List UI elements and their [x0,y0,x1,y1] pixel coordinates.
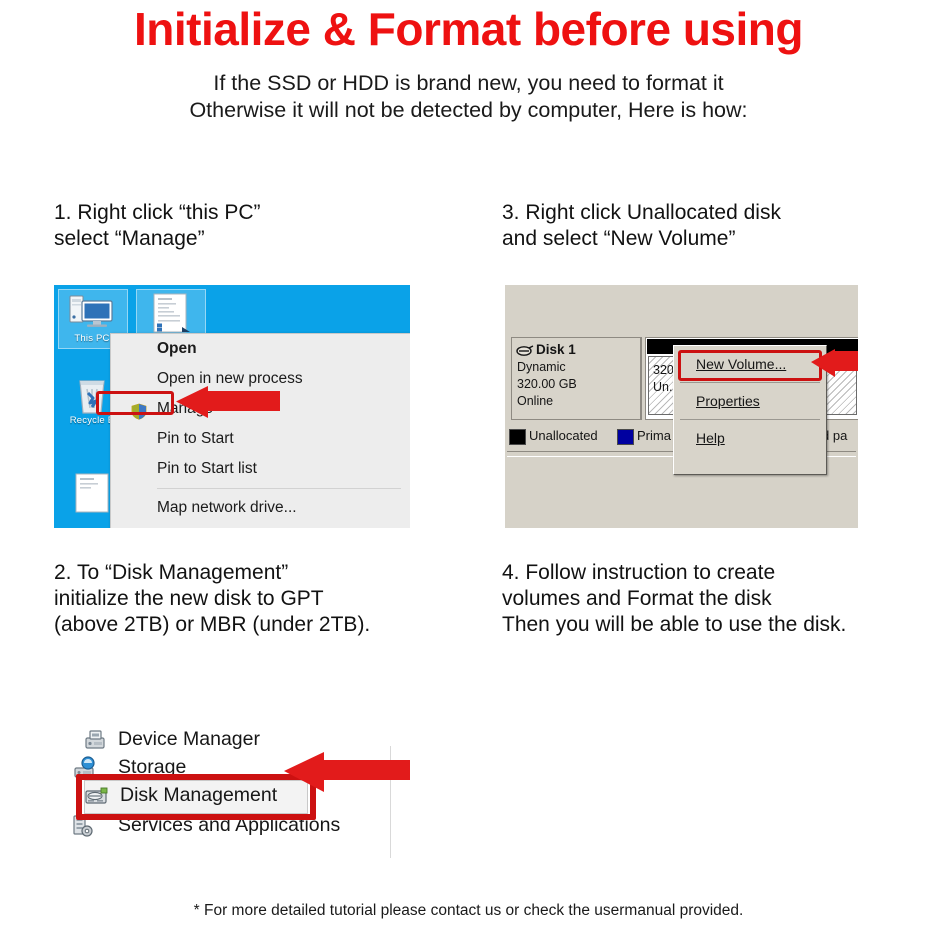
disk-capacity: 320.00 GB [517,377,577,391]
step-2-line-2: initialize the new disk to GPT [54,586,370,612]
red-arrow-manage-icon [172,385,280,424]
this-pc-icon [60,291,124,333]
legend-label-unallocated: Unallocated [529,428,598,443]
desktop-icon-document[interactable] [138,291,202,333]
context-menu-item-open[interactable]: Open [111,334,410,364]
subtitle-line-1: If the SSD or HDD is brand new, you need… [0,70,937,97]
disk-context-menu-item-properties-label: Properties [696,393,760,409]
desktop-context-menu-screenshot: This PC [54,285,410,528]
step-2-line-3: (above 2TB) or MBR (under 2TB). [54,612,370,638]
footer-note: * For more detailed tutorial please cont… [0,902,937,920]
disk-info-panel: Disk 1 Dynamic 320.00 GB Online [511,337,642,420]
disk-type: Dynamic [517,360,566,374]
disk-context-menu-item-help-label: Help [696,430,725,446]
step-3-line-2: and select “New Volume” [502,226,781,252]
step-1-line-1: 1. Right click “this PC” [54,200,261,226]
step-1-caption: 1. Right click “this PC” select “Manage” [54,200,261,252]
services-icon [70,814,96,838]
legend-label-primary: Prima [637,428,671,443]
legend-swatch-primary [617,429,634,445]
storage-icon [72,756,98,780]
subtitle-block: If the SSD or HDD is brand new, you need… [0,70,937,124]
context-menu-item-pin-to-start-list[interactable]: Pin to Start list [111,454,410,484]
tree-item-device-manager-label: Device Manager [118,728,260,751]
document-icon [138,291,202,333]
step-4-line-1: 4. Follow instruction to create [502,560,846,586]
context-menu-separator [157,488,401,489]
tree-item-services-and-applications-label: Services and Applications [118,814,340,837]
disk-context-menu-item-new-volume-label: New Volume... [696,356,786,372]
legend-swatch-unallocated [509,429,526,445]
page-title: Initialize & Format before using [0,2,937,56]
disk-management-icon [84,784,110,808]
shield-icon [131,401,147,418]
disk-management-screenshot: Disk 1 Dynamic 320.00 GB Online 320 Un. … [505,285,858,528]
disk-status: Online [517,394,553,408]
step-3-line-1: 3. Right click Unallocated disk [502,200,781,226]
disk-icon [516,344,534,356]
context-menu-item-map-network-drive[interactable]: Map network drive... [111,493,410,523]
context-menu-item-pin-to-start[interactable]: Pin to Start [111,424,410,454]
volume-status-label: Un. [653,380,672,394]
step-1-line-2: select “Manage” [54,226,261,252]
disk-context-menu-item-properties[interactable]: Properties [674,383,826,419]
step-2-line-1: 2. To “Disk Management” [54,560,370,586]
red-arrow-new-volume-icon [809,348,858,383]
disk-title: Disk 1 [536,342,576,357]
device-manager-icon [82,728,108,752]
step-4-line-3: Then you will be able to use the disk. [502,612,846,638]
step-2-caption: 2. To “Disk Management” initialize the n… [54,560,370,638]
tree-item-storage-label: Storage [118,756,186,779]
disk-context-menu: New Volume... Properties Help [673,345,827,475]
disk-context-menu-item-help[interactable]: Help [674,420,826,456]
red-arrow-disk-management-icon [280,750,410,799]
volume-size-label: 320 [653,363,674,377]
disk-context-menu-item-new-volume[interactable]: New Volume... [674,346,826,382]
subtitle-line-2: Otherwise it will not be detected by com… [0,97,937,124]
desktop-context-menu: Open Open in new process Manage Pin to S… [110,333,410,528]
tree-item-disk-management-label: Disk Management [120,784,277,807]
step-4-line-2: volumes and Format the disk [502,586,846,612]
step-4-caption: 4. Follow instruction to create volumes … [502,560,846,638]
step-3-caption: 3. Right click Unallocated disk and sele… [502,200,781,252]
